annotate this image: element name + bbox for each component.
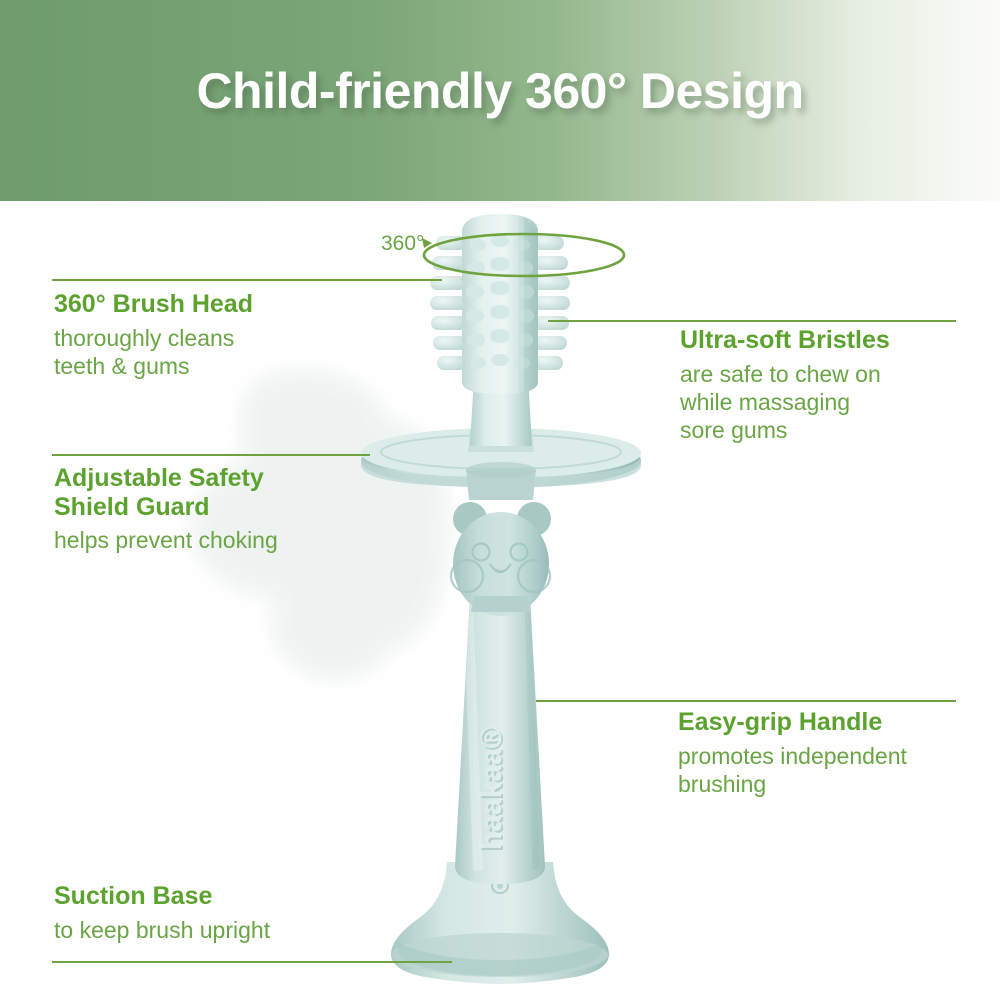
lead-line-easy-grip-handle (536, 700, 956, 702)
callout-easy-grip-handle-desc-line-2: brushing (678, 770, 907, 798)
callout-easy-grip-handle: Easy-grip Handle promotes independent br… (678, 708, 907, 798)
callout-ultra-soft-bristles-title: Ultra-soft Bristles (680, 326, 890, 355)
callout-ultra-soft-bristles-desc-line-2: while massaging (680, 388, 890, 416)
callout-ultra-soft-bristles-desc-line-1: are safe to chew on (680, 360, 890, 388)
callout-brush-head-title: 360° Brush Head (54, 290, 253, 319)
callout-suction-base: Suction Base to keep brush upright (54, 882, 270, 944)
lead-line-ultra-soft-bristles (548, 320, 956, 322)
lead-line-shield-guard (52, 454, 370, 456)
svg-text:haakaa®: haakaa® (475, 726, 508, 850)
bear-face-bead-part (451, 502, 551, 616)
callout-easy-grip-handle-title: Easy-grip Handle (678, 708, 907, 737)
product-feature-infographic: Child-friendly 360° Design (0, 0, 1000, 1000)
callout-brush-head: 360° Brush Head thoroughly cleans teeth … (54, 290, 253, 380)
callout-suction-base-title: Suction Base (54, 882, 270, 911)
callout-brush-head-desc-line-1: thoroughly cleans (54, 324, 253, 352)
callout-ultra-soft-bristles-desc-line-3: sore gums (680, 416, 890, 444)
callout-suction-base-desc-line-1: to keep brush upright (54, 916, 270, 944)
rotation-ellipse-arrow-icon (416, 225, 632, 285)
lead-line-brush-head (52, 279, 442, 281)
lead-line-suction-base (52, 961, 452, 963)
callout-brush-head-desc-line-2: teeth & gums (54, 352, 253, 380)
callout-shield-guard-title-line-1: Adjustable Safety (54, 464, 278, 493)
callout-ultra-soft-bristles: Ultra-soft Bristles are safe to chew on … (680, 326, 890, 444)
handle-part: haakaa® haakaa® (455, 596, 545, 884)
callout-easy-grip-handle-desc-line-1: promotes independent (678, 742, 907, 770)
brand-emboss: haakaa® haakaa® (475, 726, 510, 852)
callout-shield-guard-desc-line-1: helps prevent choking (54, 526, 278, 554)
callout-shield-guard: Adjustable Safety Shield Guard helps pre… (54, 464, 278, 554)
callout-shield-guard-title-line-2: Shield Guard (54, 493, 278, 522)
